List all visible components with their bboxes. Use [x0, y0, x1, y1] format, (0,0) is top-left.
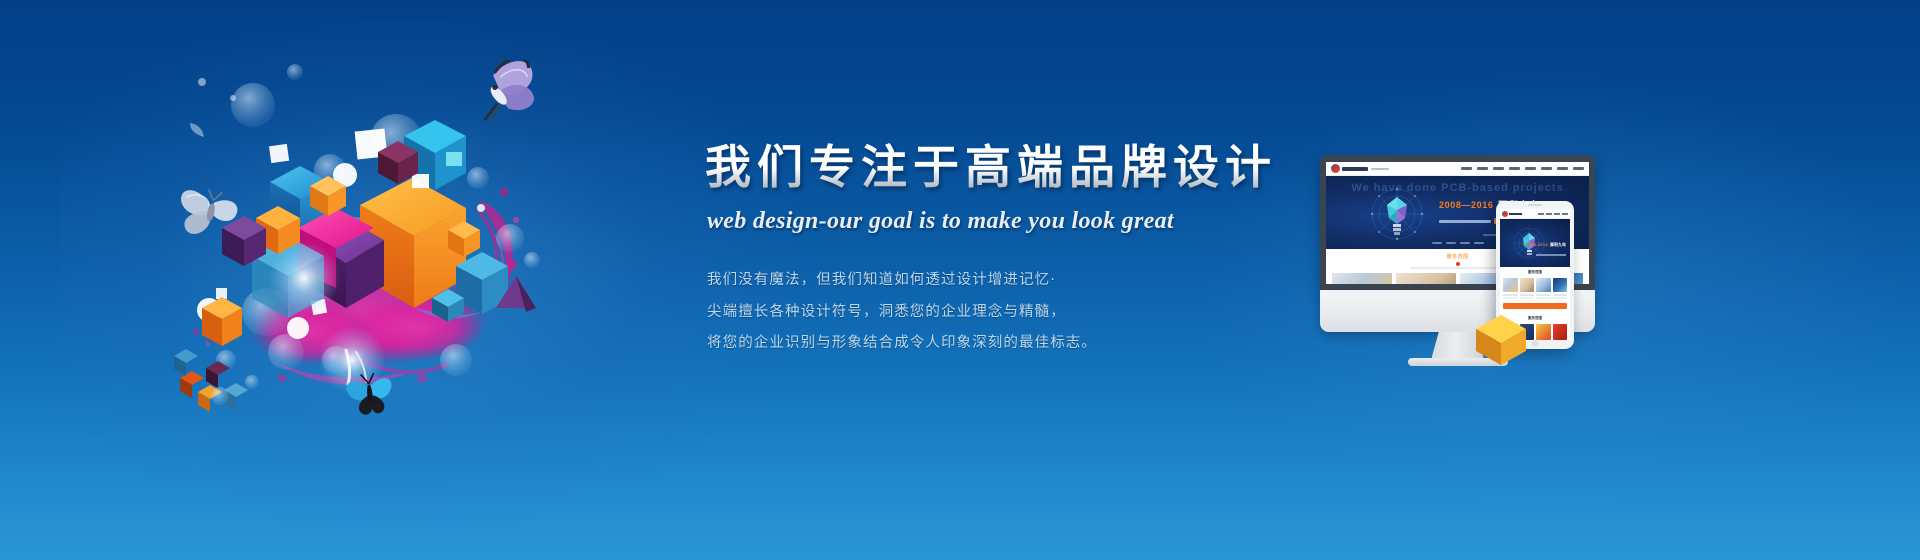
phone-thumb-subcaption — [1503, 297, 1518, 299]
hero-banner: 我们专注于高端品牌设计 web design-our goal is to ma… — [0, 0, 1920, 560]
site-nav-item — [1541, 167, 1552, 170]
carousel-dot[interactable] — [1432, 242, 1442, 244]
phone-hero-banner: 2008-2016厚积九年 — [1500, 219, 1570, 267]
site-nav-item — [1477, 167, 1488, 170]
phone-nav-item — [1538, 213, 1544, 215]
site-nav-item — [1525, 167, 1536, 170]
device-mockups: We have done PCB-based projects — [1320, 155, 1740, 395]
phone-grid-1 — [1503, 278, 1567, 299]
phone-speaker — [1528, 204, 1542, 206]
phone-thumb-caption — [1536, 294, 1551, 296]
phone-thumb — [1536, 278, 1551, 292]
butterfly-purple — [469, 60, 543, 124]
phone-hero-text: 2008-2016厚积九年 — [1526, 233, 1566, 256]
hero-subtext-bar — [1439, 220, 1491, 223]
section-title-cn: 服务范围 — [1446, 254, 1468, 260]
phone-thumb-caption — [1503, 294, 1518, 296]
section-accent-dot — [1456, 262, 1460, 266]
phone-grid-cell-2[interactable] — [1536, 324, 1551, 340]
phone-nav-item — [1546, 213, 1552, 215]
site-nav-item — [1573, 167, 1584, 170]
site-nav-item — [1461, 167, 1472, 170]
phone-hero-year: 2008-2016 — [1526, 242, 1548, 247]
phone-thumb — [1553, 278, 1568, 292]
phone-thumb — [1503, 278, 1518, 292]
carousel-dot[interactable] — [1460, 242, 1470, 244]
site-navbar — [1326, 162, 1589, 176]
phone-thumb-caption — [1553, 294, 1568, 296]
page-title: 我们专注于高端品牌设计 — [705, 140, 1325, 194]
section-divider — [1410, 267, 1506, 269]
body-copy: 我们没有魔法，但我们知道如何透过设计增进记忆· 尖端擅长各种设计符号，洞悉您的企… — [707, 273, 1325, 351]
phone-grid-cell[interactable] — [1553, 278, 1568, 299]
phone-thumb-subcaption — [1536, 297, 1551, 299]
gold-cube-accent — [1472, 311, 1530, 369]
thumbnail-item[interactable] — [1396, 273, 1456, 284]
phone-thumb-subcaption — [1553, 297, 1568, 299]
phone-grid-cell-2[interactable] — [1553, 324, 1568, 340]
phone-grid-cell[interactable] — [1503, 278, 1518, 299]
phone-thumb-subcaption — [1520, 297, 1535, 299]
site-logo-icon — [1331, 164, 1340, 173]
phone-section-title: 服务范围 — [1503, 270, 1567, 275]
hero-carousel-dots[interactable] — [1432, 242, 1484, 244]
phone-thumb-caption — [1520, 294, 1535, 296]
phone-nav-item — [1554, 213, 1560, 215]
lightbulb-network-graphic — [1360, 188, 1434, 246]
hero-year-label: 2008—2016 — [1439, 200, 1493, 210]
phone-section-1: 服务范围 — [1500, 267, 1570, 299]
phone-hero-headline: 厚积九年 — [1550, 242, 1566, 247]
phone-cta-button[interactable] — [1503, 303, 1567, 309]
hero-text-block: 我们专注于高端品牌设计 web design-our goal is to ma… — [705, 140, 1325, 351]
phone-grid-cell[interactable] — [1536, 278, 1551, 299]
phone-grid-cell[interactable] — [1520, 278, 1535, 299]
site-nav-items — [1461, 167, 1584, 170]
phone-hero-subtext — [1536, 254, 1566, 256]
body-line-1: 我们没有魔法，但我们知道如何透过设计增进记忆· — [707, 273, 1325, 288]
site-logo-subtext — [1371, 168, 1389, 170]
site-logo-text — [1342, 167, 1368, 171]
phone-nav-item — [1562, 213, 1568, 215]
phone-thumb — [1520, 278, 1535, 292]
glow-bloom-1 — [268, 242, 340, 314]
body-line-3: 将您的企业识别与形象结合成令人印象深刻的最佳标志。 — [707, 336, 1325, 351]
page-subtitle: web design-our goal is to make you look … — [707, 208, 1325, 235]
phone-site-logo-text — [1509, 213, 1522, 215]
carousel-dot[interactable] — [1474, 242, 1484, 244]
abstract-artwork — [160, 60, 580, 460]
site-nav-item — [1557, 167, 1568, 170]
site-nav-item — [1493, 167, 1504, 170]
phone-home-button[interactable] — [1532, 340, 1539, 347]
phone-site-logo-icon — [1502, 211, 1508, 217]
phone-navbar — [1500, 209, 1570, 219]
body-line-2: 尖端擅长各种设计符号，洞悉您的企业理念与精髓， — [707, 305, 1325, 320]
phone-nav-items — [1538, 213, 1568, 215]
thumbnail-item[interactable] — [1332, 273, 1392, 284]
carousel-dot[interactable] — [1446, 242, 1456, 244]
site-nav-item — [1509, 167, 1520, 170]
